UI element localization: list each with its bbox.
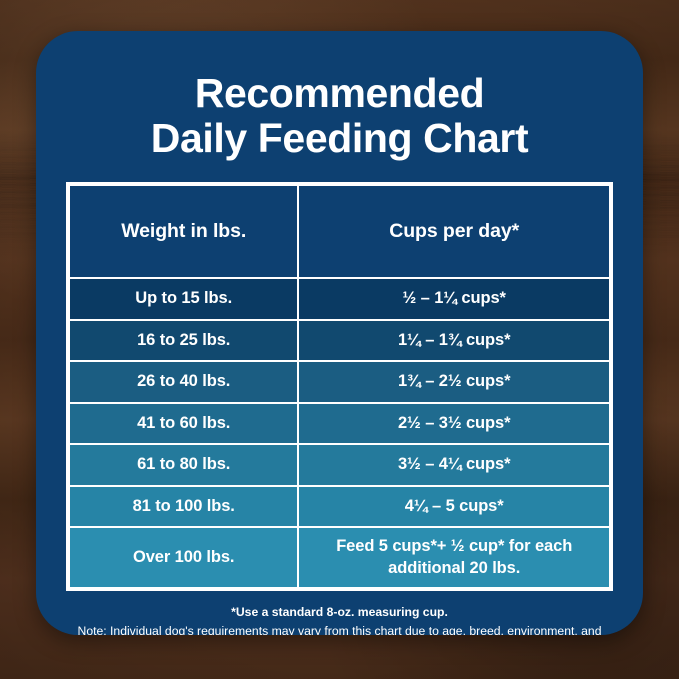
cell-cups: 3½ – 4¼ cups* — [298, 444, 610, 486]
cell-cups: 1¾ – 2½ cups* — [298, 361, 610, 403]
cell-weight: 16 to 25 lbs. — [69, 320, 298, 362]
cell-weight: 61 to 80 lbs. — [69, 444, 298, 486]
cell-weight: 81 to 100 lbs. — [69, 486, 298, 528]
cell-cups: ½ – 1¼ cups* — [298, 278, 610, 320]
table-header: Weight in lbs. Cups per day* — [69, 185, 610, 278]
footnote-measuring-cup: *Use a standard 8-oz. measuring cup. — [70, 604, 609, 622]
cell-weight: 26 to 40 lbs. — [69, 361, 298, 403]
column-header-cups: Cups per day* — [298, 185, 610, 278]
table-body: Up to 15 lbs.½ – 1¼ cups*16 to 25 lbs.1¼… — [69, 278, 610, 588]
page-title-line-1: Recommended — [80, 71, 599, 116]
footnotes: *Use a standard 8-oz. measuring cup. Not… — [70, 604, 609, 635]
column-header-weight: Weight in lbs. — [69, 185, 298, 278]
table-header-row: Weight in lbs. Cups per day* — [69, 185, 610, 278]
page-title-line-2: Daily Feeding Chart — [80, 116, 599, 161]
table-row: 81 to 100 lbs.4¼ – 5 cups* — [69, 486, 610, 528]
table-row: 26 to 40 lbs.1¾ – 2½ cups* — [69, 361, 610, 403]
cell-cups: 4¼ – 5 cups* — [298, 486, 610, 528]
table-row: 16 to 25 lbs.1¼ – 1¾ cups* — [69, 320, 610, 362]
cell-weight: Up to 15 lbs. — [69, 278, 298, 320]
table-row: Up to 15 lbs.½ – 1¼ cups* — [69, 278, 610, 320]
cell-weight: 41 to 60 lbs. — [69, 403, 298, 445]
page-title: Recommended Daily Feeding Chart — [36, 31, 643, 161]
footnote-note: Note: Individual dog's requirements may … — [70, 622, 609, 635]
cell-weight: Over 100 lbs. — [69, 527, 298, 588]
cell-cups: 1¼ – 1¾ cups* — [298, 320, 610, 362]
feeding-table: Weight in lbs. Cups per day* Up to 15 lb… — [68, 184, 611, 589]
table-row: 41 to 60 lbs.2½ – 3½ cups* — [69, 403, 610, 445]
cell-cups: Feed 5 cups*+ ½ cup* for each additional… — [298, 527, 610, 588]
table-row: 61 to 80 lbs.3½ – 4¼ cups* — [69, 444, 610, 486]
feeding-chart-card: Recommended Daily Feeding Chart Weight i… — [36, 31, 643, 635]
feeding-table-container: Weight in lbs. Cups per day* Up to 15 lb… — [66, 182, 613, 591]
cell-cups: 2½ – 3½ cups* — [298, 403, 610, 445]
table-row: Over 100 lbs.Feed 5 cups*+ ½ cup* for ea… — [69, 527, 610, 588]
